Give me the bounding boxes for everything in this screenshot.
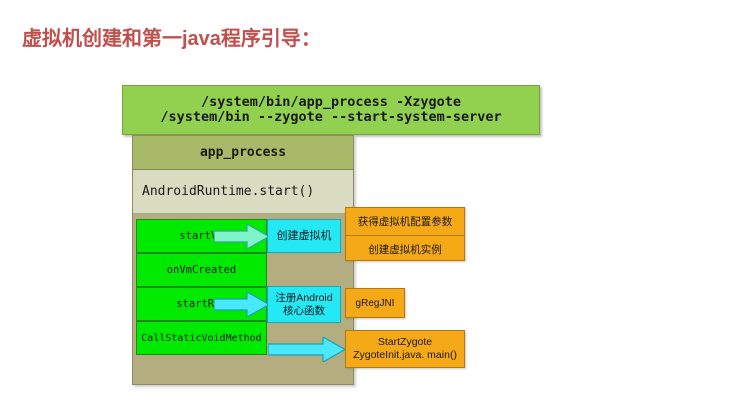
arrow-callstatic-to-startzygote	[268, 337, 346, 362]
command-line-2: /system/bin --zygote --start-system-serv…	[160, 110, 501, 125]
command-banner: /system/bin/app_process -Xzygote /system…	[122, 85, 540, 135]
action-create-vm-label: 创建虚拟机	[277, 230, 332, 243]
detail-vm-config-params: 获得虚拟机配置参数	[346, 208, 464, 236]
action-box-register-android: 注册Android 核心函数	[267, 286, 341, 323]
detail-start-zygote-line1: StartZygote	[378, 336, 432, 349]
android-runtime-start-row: AndroidRuntime.start()	[133, 170, 353, 214]
arrow-startvm-to-createvm	[214, 224, 270, 249]
detail-start-zygote-line2: ZygoteInit.java. main()	[353, 349, 457, 362]
detail-box-gregjni: gRegJNI	[345, 288, 405, 318]
app-process-header: app_process	[133, 136, 353, 170]
command-line-1: /system/bin/app_process -Xzygote	[201, 95, 461, 110]
method-box-callstaticvoidmethod: CallStaticVoidMethod	[136, 321, 267, 355]
method-box-onvmcreated: onVmCreated	[136, 253, 267, 287]
flow-diagram: /system/bin/app_process -Xzygote /system…	[0, 0, 755, 418]
action-register-android-line2: 核心函数	[283, 305, 325, 317]
action-box-create-vm: 创建虚拟机	[267, 219, 341, 253]
detail-box-start-zygote: StartZygote ZygoteInit.java. main()	[345, 330, 465, 368]
arrow-startreg-to-regjni	[214, 292, 270, 317]
detail-box-vm-group: 获得虚拟机配置参数 创建虚拟机实例	[345, 207, 465, 261]
action-register-android-line1: 注册Android	[275, 292, 332, 304]
detail-vm-create-instance: 创建虚拟机实例	[346, 236, 464, 263]
